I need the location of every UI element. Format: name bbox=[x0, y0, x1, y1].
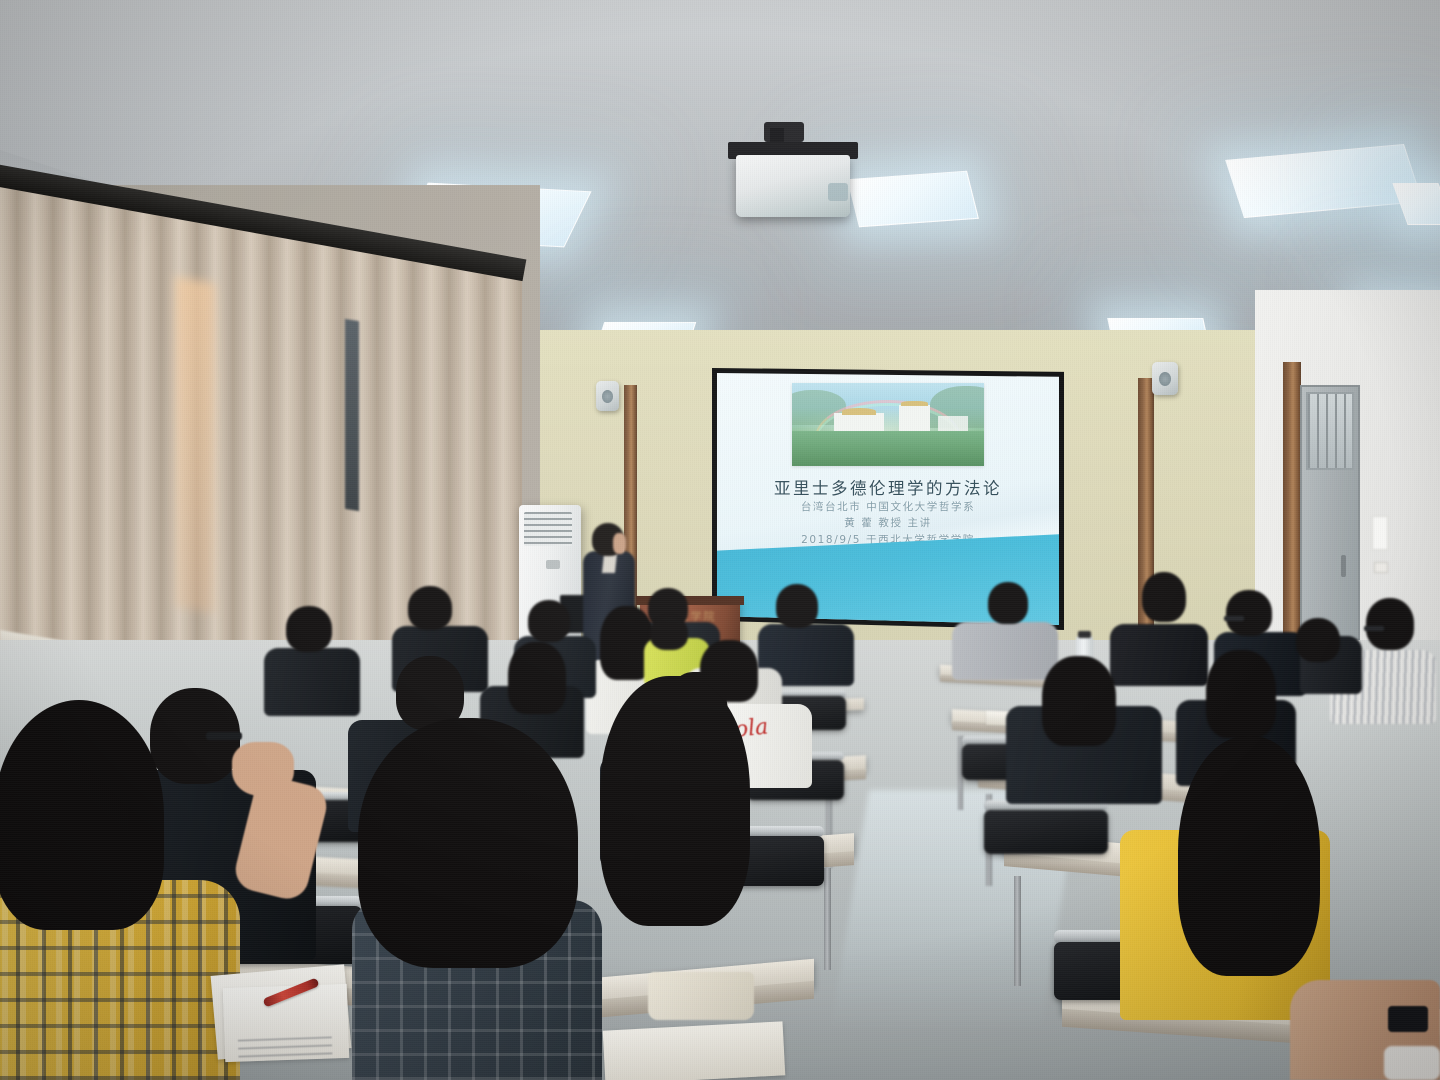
student-head bbox=[1226, 590, 1272, 636]
door-handle-icon[interactable] bbox=[1341, 555, 1346, 577]
light-switch[interactable] bbox=[1374, 562, 1388, 573]
paper-sheets bbox=[603, 1021, 786, 1080]
wall-speaker-left bbox=[596, 381, 619, 411]
slide-photo-foliage bbox=[792, 431, 984, 466]
slide-subtitle-speaker: 黄 藿 教授 主讲 bbox=[717, 515, 1059, 530]
student-long-hair bbox=[1206, 650, 1276, 738]
air-conditioner-vents-icon bbox=[524, 512, 572, 546]
student-head bbox=[988, 582, 1028, 624]
student-long-hair bbox=[0, 700, 164, 930]
student-head bbox=[650, 616, 688, 650]
smartphone[interactable] bbox=[1388, 1006, 1428, 1032]
desk-leg bbox=[1014, 876, 1021, 986]
speaker-cone-icon bbox=[602, 390, 613, 403]
desk-leg bbox=[824, 868, 831, 970]
speaker-cone-icon bbox=[1159, 372, 1171, 387]
student-dark-row1-a bbox=[1110, 624, 1208, 686]
slide-photo-building-main bbox=[834, 413, 884, 433]
lecturer-shirt bbox=[602, 553, 617, 573]
student-grey-polo-front-row bbox=[952, 622, 1058, 680]
student-head bbox=[408, 586, 452, 630]
bottle-cap-icon bbox=[1078, 631, 1091, 638]
glasses-icon bbox=[206, 732, 242, 740]
slide-photo-building-right bbox=[899, 405, 930, 433]
slide-photo-roof-right bbox=[901, 401, 928, 407]
wall-speaker-right bbox=[1152, 362, 1178, 395]
air-conditioner-panel-icon bbox=[546, 560, 560, 569]
slide-photo-roof-main bbox=[842, 408, 876, 415]
shirt-cuff-white bbox=[1384, 1046, 1440, 1080]
led-panel-front-right bbox=[847, 171, 979, 228]
paper-text-lines bbox=[238, 1030, 333, 1057]
lecture-hall-photo: 亚里士多德伦理学的方法论 台湾台北市 中国文化大学哲学系 黄 藿 教授 主讲 2… bbox=[0, 0, 1440, 1080]
student-long-hair bbox=[508, 642, 566, 714]
slide-photo-campus bbox=[792, 383, 984, 466]
slide-subtitle-affiliation: 台湾台北市 中国文化大学哲学系 bbox=[717, 499, 1059, 514]
chair-back bbox=[984, 810, 1108, 854]
student-head bbox=[1142, 572, 1186, 622]
student-long-hair bbox=[600, 676, 750, 926]
tote-bag bbox=[648, 972, 754, 1020]
lecturer-face bbox=[613, 533, 626, 554]
glasses-icon bbox=[1224, 616, 1244, 621]
student-head bbox=[528, 600, 570, 642]
student-head bbox=[286, 606, 332, 652]
glasses-icon bbox=[1364, 626, 1384, 631]
wall-trim-corner bbox=[1283, 362, 1301, 672]
student-long-hair bbox=[1042, 656, 1116, 746]
student-dark-row2-right bbox=[264, 648, 360, 716]
student-long-hair bbox=[1178, 736, 1320, 976]
student-head bbox=[776, 584, 818, 628]
slide-title: 亚里士多德伦理学的方法论 bbox=[717, 475, 1059, 499]
door-window-bars-icon bbox=[1308, 394, 1352, 468]
student-head bbox=[1296, 618, 1340, 662]
student-head bbox=[1366, 598, 1414, 650]
curtain-gap bbox=[345, 319, 359, 511]
projector-lens-icon bbox=[828, 183, 848, 201]
wall-sign bbox=[1372, 516, 1388, 550]
curtain-sunlight-glow bbox=[175, 277, 215, 613]
student-long-hair bbox=[358, 718, 578, 968]
